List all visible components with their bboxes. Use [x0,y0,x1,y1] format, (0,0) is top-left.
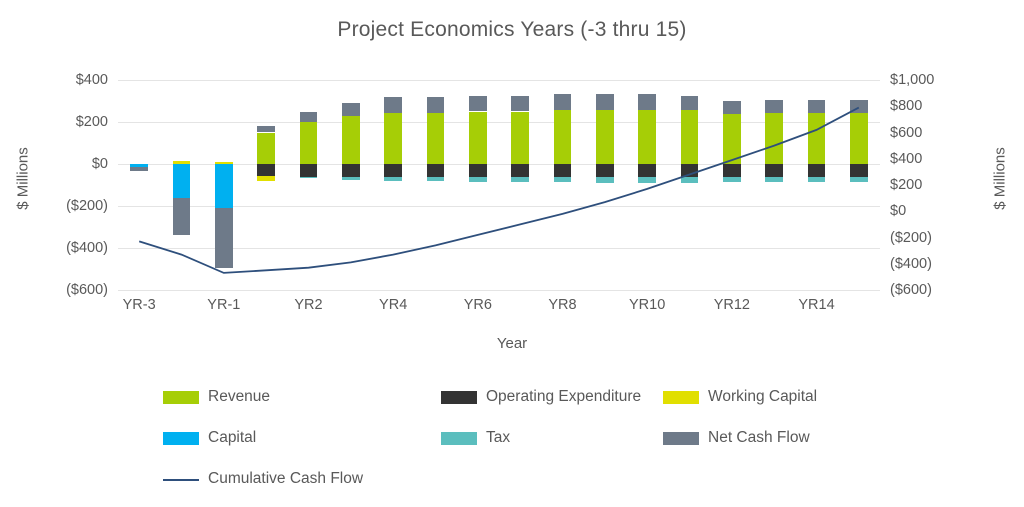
legend-color-swatch-icon [163,391,199,404]
x-axis-tick-label: YR12 [714,297,750,313]
x-axis-tick-label: YR-1 [207,297,240,313]
x-axis-tick-label: YR-3 [123,297,156,313]
y-axis-right-tick-label: ($400) [890,257,932,272]
legend-line-swatch-icon [163,473,199,486]
y-axis-left-tick-label: ($400) [66,241,108,256]
legend-color-swatch-icon [663,391,699,404]
legend-item[interactable]: Working Capital [663,388,817,406]
legend-label: Net Cash Flow [708,429,810,447]
legend-label: Capital [208,429,256,447]
legend-label: Tax [486,429,510,447]
y-axis-left-ticks: $400$200$0($200)($400)($600) [0,80,108,290]
legend-item[interactable]: Net Cash Flow [663,429,810,447]
y-axis-left-tick-label: $0 [92,157,108,172]
legend-label: Working Capital [708,388,817,406]
legend-color-swatch-icon [163,432,199,445]
legend-item[interactable]: Cumulative Cash Flow [163,470,363,488]
legend-label: Cumulative Cash Flow [208,470,363,488]
y-axis-right-tick-label: $200 [890,178,922,193]
x-axis-tick-label: YR2 [294,297,322,313]
y-axis-left-tick-label: $400 [76,73,108,88]
legend-item[interactable]: Revenue [163,388,270,406]
y-axis-right-tick-label: ($600) [890,283,932,298]
y-axis-right-tick-label: $600 [890,126,922,141]
y-axis-left-tick-label: $200 [76,115,108,130]
y-axis-right-tick-label: $800 [890,99,922,114]
x-axis-tick-label: YR10 [629,297,665,313]
y-axis-right-tick-label: $400 [890,152,922,167]
legend-color-swatch-icon [441,391,477,404]
y-axis-left-tick-label: ($600) [66,283,108,298]
y-axis-left-tick-label: ($200) [66,199,108,214]
legend-color-swatch-icon [441,432,477,445]
x-axis-tick-label: YR8 [548,297,576,313]
cumulative-cash-flow-line [118,80,880,290]
legend-color-swatch-icon [663,432,699,445]
legend-item[interactable]: Capital [163,429,256,447]
legend-label: Revenue [208,388,270,406]
chart-container: Project Economics Years (-3 thru 15) $ M… [0,0,1024,507]
gridline [118,290,880,291]
x-axis-tick-label: YR4 [379,297,407,313]
chart-legend: RevenueOperating ExpenditureWorking Capi… [163,388,863,493]
x-axis-tick-label: YR6 [464,297,492,313]
legend-item[interactable]: Tax [441,429,510,447]
y-axis-right-tick-label: $0 [890,204,906,219]
plot-area [118,80,880,290]
legend-label: Operating Expenditure [486,388,641,406]
x-axis-ticks: YR-3YR-1YR2YR4YR6YR8YR10YR12YR14 [118,297,880,327]
y-axis-right-tick-label: ($200) [890,231,932,246]
y-axis-right-tick-label: $1,000 [890,73,934,88]
chart-title: Project Economics Years (-3 thru 15) [0,18,1024,42]
x-axis-title: Year [0,335,1024,352]
x-axis-tick-label: YR14 [798,297,834,313]
legend-item[interactable]: Operating Expenditure [441,388,641,406]
y-axis-right-ticks: $1,000$800$600$400$200$0($200)($400)($60… [890,80,1000,290]
